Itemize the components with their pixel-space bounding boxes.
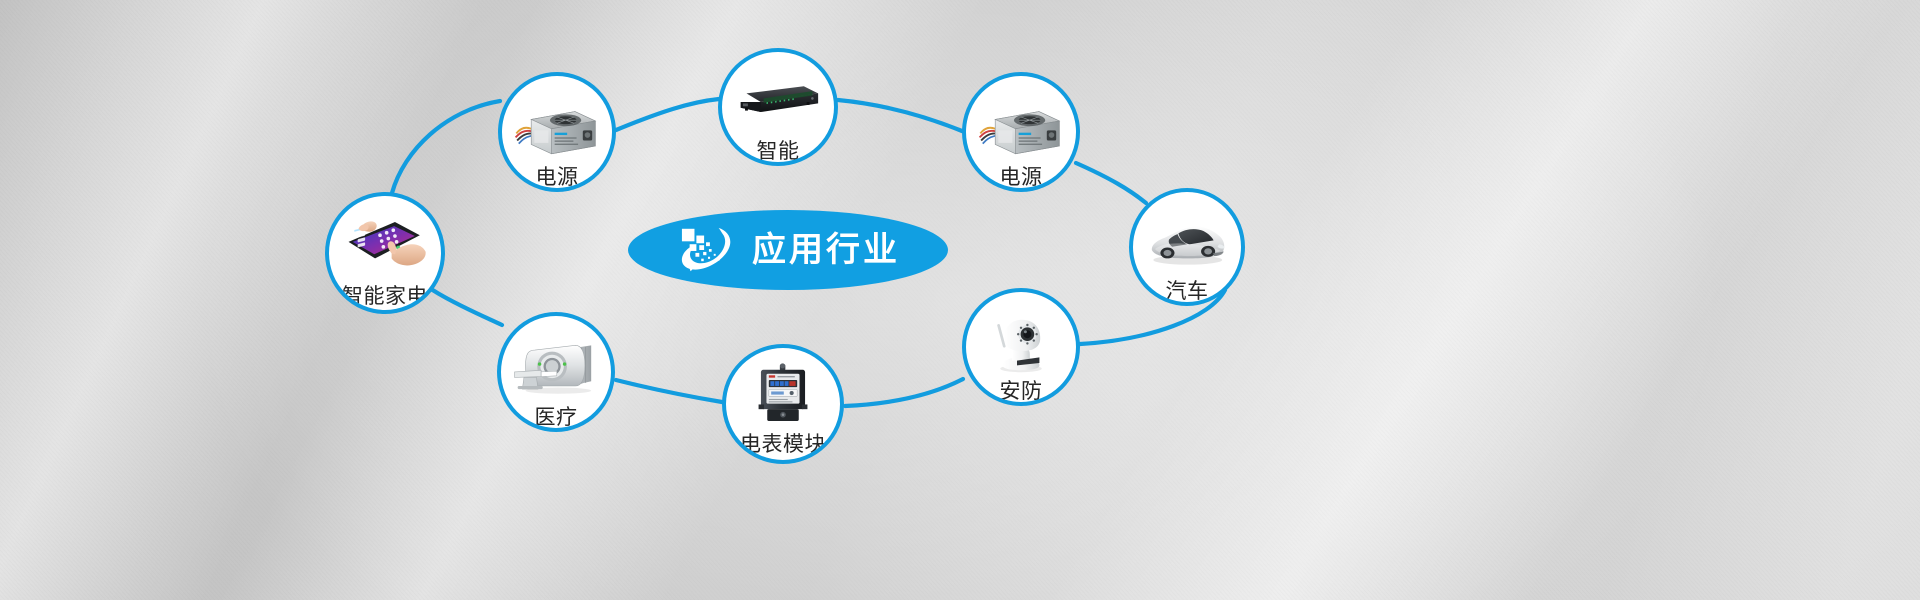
node-automotive[interactable]: 汽车 <box>1129 188 1245 306</box>
rack-server-icon <box>735 66 821 137</box>
ip-camera-icon <box>978 308 1064 377</box>
application-industries-diagram: 电源 <box>0 0 1920 600</box>
electric-meter-icon <box>740 360 826 430</box>
node-smart[interactable]: 智能 <box>718 48 838 166</box>
node-label: 电源 <box>536 167 579 188</box>
orbit-pixel-logo <box>676 223 738 277</box>
link-meter-medical <box>616 380 722 402</box>
node-smart-home[interactable]: 智能家电 <box>325 192 445 314</box>
node-label: 医疗 <box>535 407 578 428</box>
background-fabric-texture <box>0 0 1920 600</box>
badge-title: 应用行业 <box>752 233 900 267</box>
ct-scanner-icon <box>513 332 599 403</box>
node-label: 智能 <box>757 141 800 162</box>
tablet-hand-icon <box>342 210 428 282</box>
power-supply-icon <box>514 92 600 163</box>
sports-car-icon <box>1144 206 1230 277</box>
node-security[interactable]: 安防 <box>962 288 1080 406</box>
link-powerleft-smart <box>616 99 719 130</box>
node-label: 智能家电 <box>342 286 428 307</box>
node-label: 电表模块 <box>740 434 826 455</box>
node-label: 电源 <box>1000 167 1043 188</box>
connector-ring <box>0 0 1920 600</box>
center-badge: 应用行业 <box>628 210 948 290</box>
node-power-left[interactable]: 电源 <box>498 72 616 192</box>
link-smart-powerright <box>838 100 962 131</box>
link-smarthome-powerleft <box>392 101 500 193</box>
link-security-meter <box>845 379 963 406</box>
node-label: 安防 <box>1000 381 1043 402</box>
link-powerright-auto <box>1076 163 1146 203</box>
node-power-right[interactable]: 电源 <box>962 72 1080 192</box>
node-medical[interactable]: 医疗 <box>497 312 615 432</box>
node-label: 汽车 <box>1166 281 1209 302</box>
background-vignette <box>0 0 1920 600</box>
node-meter[interactable]: 电表模块 <box>722 344 844 464</box>
power-supply-icon <box>978 92 1064 163</box>
